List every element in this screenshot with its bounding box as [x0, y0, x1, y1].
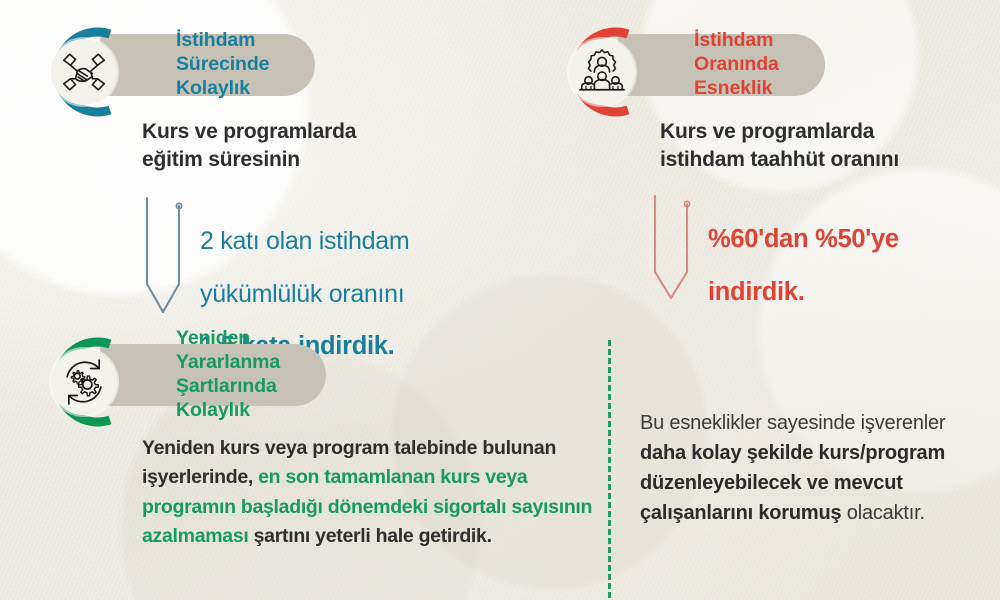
block-lead-text: Kurs ve programlarda eğitim süresinin [142, 118, 522, 174]
highlight-line-1: %60'dan %50'ye [708, 223, 1000, 256]
handshake-icon [51, 39, 117, 105]
infographic-canvas: İstihdam Sürecinde Kolaylık [0, 0, 1000, 600]
vertical-dashed-divider [608, 340, 611, 598]
title-pill: İstihdam Oranında Esneklik [618, 34, 825, 96]
down-arrow-icon [140, 196, 186, 316]
block-title: İstihdam Oranında Esneklik [694, 29, 779, 101]
block-lead-text: Kurs ve programlarda istihdam taahhüt or… [660, 118, 1000, 174]
summary-seg-1: Bu esneklikler sayesinde işverenler [640, 412, 945, 434]
people-gear-icon [569, 39, 635, 105]
highlight-line-2: yükümlülük oranını [200, 278, 530, 310]
icon-badge [38, 336, 130, 428]
highlight-line-1: 2 katı olan istihdam [200, 225, 530, 257]
title-pill: İstihdam Sürecinde Kolaylık [100, 34, 315, 96]
rich-seg-3: şartını yeterli hale getirdik. [254, 525, 492, 547]
title-pill: Yeniden Yararlanma Şartlarında Kolaylık [100, 344, 326, 406]
icon-badge [38, 26, 130, 118]
block-title: Yeniden Yararlanma Şartlarında Kolaylık [176, 327, 280, 423]
block-rich-body: Yeniden kurs veya program talebinde bulu… [142, 434, 612, 552]
down-arrow-icon [648, 194, 694, 302]
highlight-line-2: indirdik. [708, 276, 1000, 309]
block-highlight: %60'dan %50'ye indirdik. [708, 202, 1000, 330]
summary-seg-2: olacaktır. [841, 502, 924, 524]
summary-note: Bu esneklikler sayesinde işverenler daha… [640, 408, 970, 528]
block-title: İstihdam Sürecinde Kolaylık [176, 29, 269, 101]
icon-badge [556, 26, 648, 118]
rich-seg-1: Yeniden kurs veya program talebinde [142, 437, 477, 459]
gears-refresh-icon [51, 349, 117, 415]
